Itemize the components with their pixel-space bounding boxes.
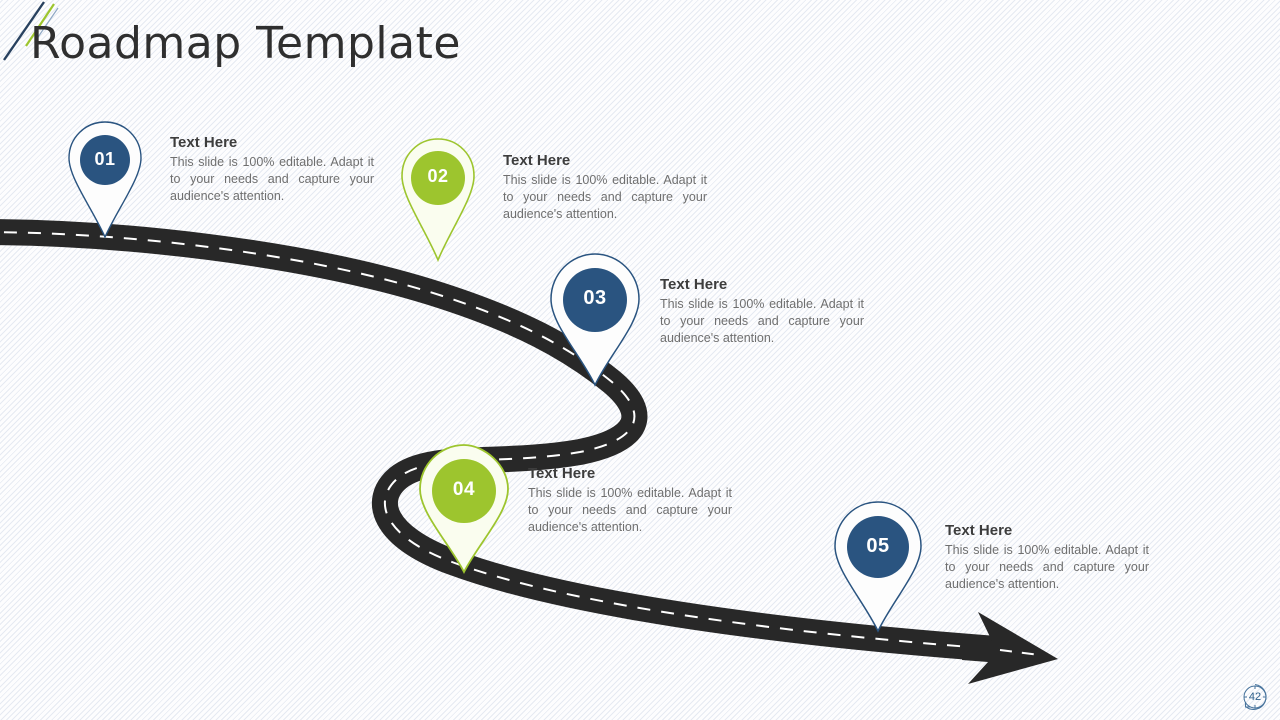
milestone-02-body: This slide is 100% editable. Adapt it to…	[503, 172, 707, 223]
map-pin-03-icon[interactable]	[548, 252, 642, 388]
milestone-01-text-block: Text Here This slide is 100% editable. A…	[170, 134, 374, 205]
map-pin-04-icon[interactable]	[416, 443, 512, 575]
milestone-04-text-block: Text Here This slide is 100% editable. A…	[528, 465, 732, 536]
milestone-02-text-block: Text Here This slide is 100% editable. A…	[503, 152, 707, 223]
page-number-badge: 42	[1238, 680, 1272, 714]
milestone-01-body: This slide is 100% editable. Adapt it to…	[170, 154, 374, 205]
milestone-04-heading: Text Here	[528, 465, 732, 483]
milestone-02-heading: Text Here	[503, 152, 707, 170]
map-pin-01-icon[interactable]	[66, 120, 144, 240]
milestone-03-heading: Text Here	[660, 276, 864, 294]
page-number-value: 42	[1238, 680, 1272, 714]
milestone-05-text-block: Text Here This slide is 100% editable. A…	[945, 522, 1149, 593]
map-pin-05-icon[interactable]	[832, 500, 924, 634]
milestone-01-heading: Text Here	[170, 134, 374, 152]
milestone-05-heading: Text Here	[945, 522, 1149, 540]
milestone-04-body: This slide is 100% editable. Adapt it to…	[528, 485, 732, 536]
slide-canvas: Roadmap Template 01 Text Here This slide…	[0, 0, 1280, 720]
map-pin-02-icon[interactable]	[399, 137, 477, 263]
milestone-05-body: This slide is 100% editable. Adapt it to…	[945, 542, 1149, 593]
milestone-03-body: This slide is 100% editable. Adapt it to…	[660, 296, 864, 347]
milestone-03-text-block: Text Here This slide is 100% editable. A…	[660, 276, 864, 347]
road-arrow-head	[962, 612, 1058, 684]
